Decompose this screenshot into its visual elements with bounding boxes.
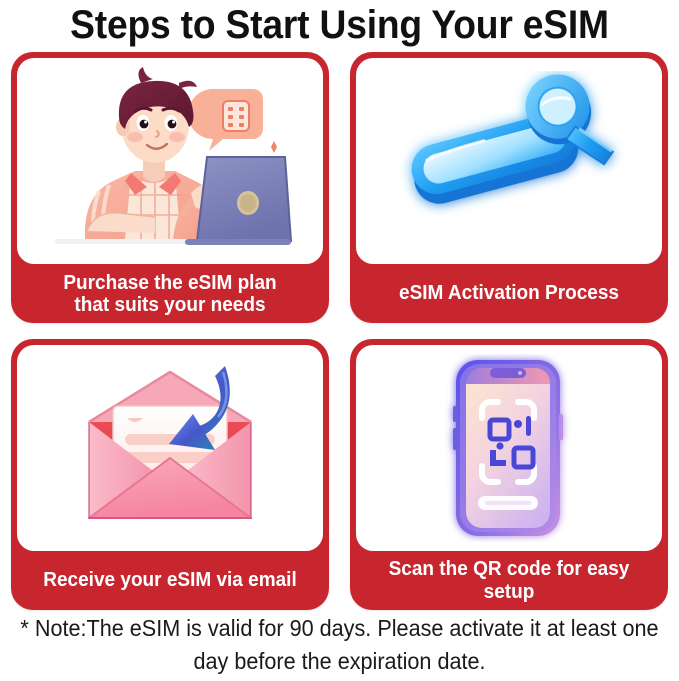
esim-steps-infographic: Steps to Start Using Your eSIM bbox=[0, 0, 679, 681]
caption-line-2: that suits your needs bbox=[74, 294, 265, 316]
step-card-caption: eSIM Activation Process bbox=[358, 264, 660, 323]
phone-qr-svg bbox=[444, 354, 574, 542]
step-card-caption: Scan the QR code for easy setup bbox=[358, 551, 660, 610]
footer-note: * Note:The eSIM is valid for 90 days. Pl… bbox=[20, 612, 658, 678]
illustration-person-at-laptop bbox=[17, 58, 323, 264]
page-title: Steps to Start Using Your eSIM bbox=[24, 2, 655, 50]
step-card-scan-qr[interactable]: Scan the QR code for easy setup bbox=[350, 339, 668, 610]
caption-line-1: Purchase the eSIM plan bbox=[63, 272, 276, 294]
step-card-purchase-plan[interactable]: Purchase the eSIM plan that suits your n… bbox=[11, 52, 329, 323]
sim-eject-pin-svg bbox=[384, 71, 634, 251]
sim-card-bubble-icon bbox=[188, 89, 277, 153]
person-laptop-svg bbox=[45, 63, 295, 259]
step-card-receive-email[interactable]: Receive your eSIM via email bbox=[11, 339, 329, 610]
envelope-arrow-svg bbox=[65, 358, 275, 538]
illustration-phone-qr-scan bbox=[356, 345, 662, 551]
illustration-sim-eject-pin bbox=[356, 58, 662, 264]
step-card-caption: Purchase the eSIM plan that suits your n… bbox=[19, 264, 321, 323]
steps-grid: Purchase the eSIM plan that suits your n… bbox=[11, 52, 668, 610]
step-card-caption: Receive your eSIM via email bbox=[19, 551, 321, 610]
step-card-activation-process[interactable]: eSIM Activation Process bbox=[350, 52, 668, 323]
laptop-icon bbox=[185, 157, 291, 245]
illustration-envelope-with-arrow bbox=[17, 345, 323, 551]
